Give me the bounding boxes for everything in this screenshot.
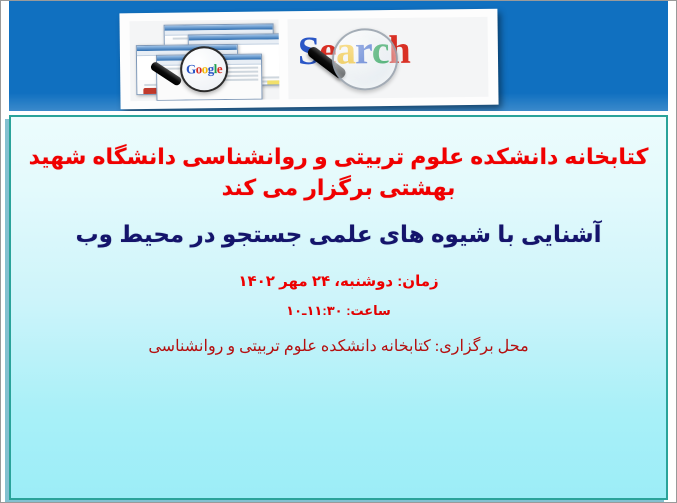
event-poster: Search: [0, 0, 677, 503]
content-sidebar-block: [267, 80, 279, 86]
header-image-card: Search: [119, 9, 498, 110]
google-letter-e: e: [217, 61, 222, 77]
browser-windows-collage-image: Google: [130, 19, 280, 101]
google-wordmark-text: Google: [186, 61, 222, 77]
announcement-headline: کتابخانه دانشکده علوم تربیتی و روانشناسی…: [21, 141, 656, 203]
search-wordmark-image: Search: [288, 17, 489, 99]
event-location-line: محل برگزاری: کتابخانه دانشکده علوم تربیت…: [19, 335, 658, 359]
event-time-line: ساعت: ۱۱:۳۰ـ۱۰: [19, 301, 658, 321]
magnifying-glass-icon: [332, 28, 399, 91]
announcement-subheadline: آشنایی با شیوه های علمی جستجو در محیط وب: [21, 219, 656, 250]
event-date-line: زمان: دوشنبه، ۲۴ مهر ۱۴۰۲: [19, 271, 658, 294]
google-letter-g: G: [186, 61, 196, 77]
announcement-panel: کتابخانه دانشکده علوم تربیتی و روانشناسی…: [9, 115, 668, 500]
header-banner: Search: [9, 1, 668, 111]
